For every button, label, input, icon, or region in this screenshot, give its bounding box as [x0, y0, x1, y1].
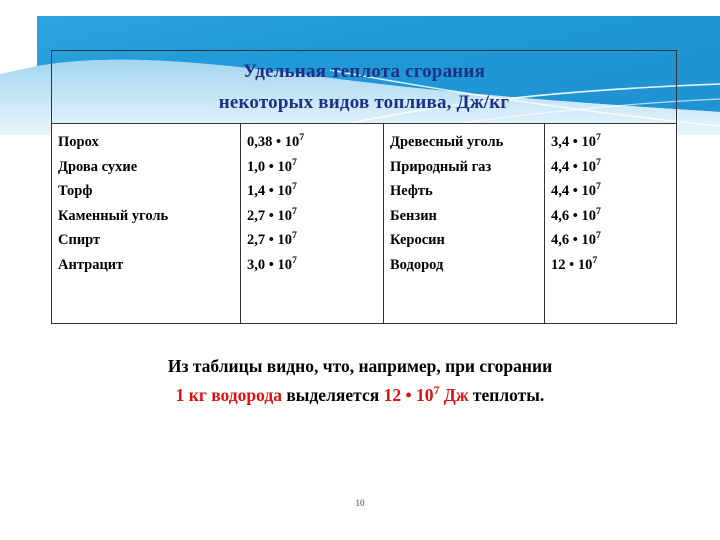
table-cell: 3,0 • 107 [247, 253, 383, 278]
table-cell: Нефть [390, 179, 544, 204]
table-cell: Водород [390, 253, 544, 278]
exponent: 7 [292, 157, 297, 168]
slide-number: 10 [0, 498, 720, 508]
title-line-2: некоторых видов топлива, Дж/кг [219, 87, 510, 118]
conclusion-highlight-value: 12 • 10 [384, 385, 434, 405]
title-line-1: Удельная теплота сгорания [243, 56, 485, 87]
exponent: 7 [596, 157, 601, 168]
table-column-name-right: Древесный уголь Природный газ Нефть Бенз… [383, 124, 544, 323]
table-cell: 0,38 • 107 [247, 130, 383, 155]
table-cell: 4,6 • 107 [551, 204, 675, 229]
conclusion-highlight-mass: 1 кг водорода [176, 385, 282, 405]
exponent: 7 [596, 230, 601, 241]
conclusion-highlight-unit: Дж [439, 385, 468, 405]
table-column-value-left: 0,38 • 107 1,0 • 107 1,4 • 107 2,7 • 107… [240, 124, 383, 323]
table-cell: 4,6 • 107 [551, 228, 675, 253]
exponent: 7 [292, 206, 297, 217]
exponent: 7 [299, 132, 304, 143]
table-body: Порох Дрова сухие Торф Каменный уголь Сп… [52, 124, 676, 323]
slide-title: Удельная теплота сгорания некоторых видо… [51, 50, 677, 124]
table-cell: 1,0 • 107 [247, 155, 383, 180]
table-cell: Торф [58, 179, 240, 204]
table-cell: 2,7 • 107 [247, 204, 383, 229]
conclusion-text-end: теплоты. [469, 385, 545, 405]
table-cell: 4,4 • 107 [551, 179, 675, 204]
table-cell: Керосин [390, 228, 544, 253]
exponent: 7 [292, 181, 297, 192]
table-cell: 12 • 107 [551, 253, 675, 278]
conclusion-line-2: 1 кг водорода выделяется 12 • 107 Дж теп… [0, 381, 720, 410]
table-cell: 1,4 • 107 [247, 179, 383, 204]
table-cell: Древесный уголь [390, 130, 544, 155]
slide: Порох Дрова сухие Торф Каменный уголь Сп… [0, 0, 720, 540]
table-column-name-left: Порох Дрова сухие Торф Каменный уголь Сп… [52, 124, 240, 323]
table-cell: Порох [58, 130, 240, 155]
table-cell: Антрацит [58, 253, 240, 278]
conclusion-text-middle: выделяется [282, 385, 384, 405]
table-cell: Природный газ [390, 155, 544, 180]
table-cell: Каменный уголь [58, 204, 240, 229]
table-cell: Спирт [58, 228, 240, 253]
table-cell: 4,4 • 107 [551, 155, 675, 180]
exponent: 7 [292, 230, 297, 241]
table-column-value-right: 3,4 • 107 4,4 • 107 4,4 • 107 4,6 • 107 … [544, 124, 675, 323]
exponent: 7 [596, 181, 601, 192]
table-cell: 2,7 • 107 [247, 228, 383, 253]
exponent: 7 [292, 255, 297, 266]
table-cell: Дрова сухие [58, 155, 240, 180]
exponent: 7 [592, 255, 597, 266]
exponent: 7 [596, 206, 601, 217]
table-cell: 3,4 • 107 [551, 130, 675, 155]
table-cell: Бензин [390, 204, 544, 229]
exponent: 7 [596, 132, 601, 143]
conclusion-line-1: Из таблицы видно, что, например, при сго… [0, 352, 720, 381]
conclusion-text: Из таблицы видно, что, например, при сго… [0, 352, 720, 410]
